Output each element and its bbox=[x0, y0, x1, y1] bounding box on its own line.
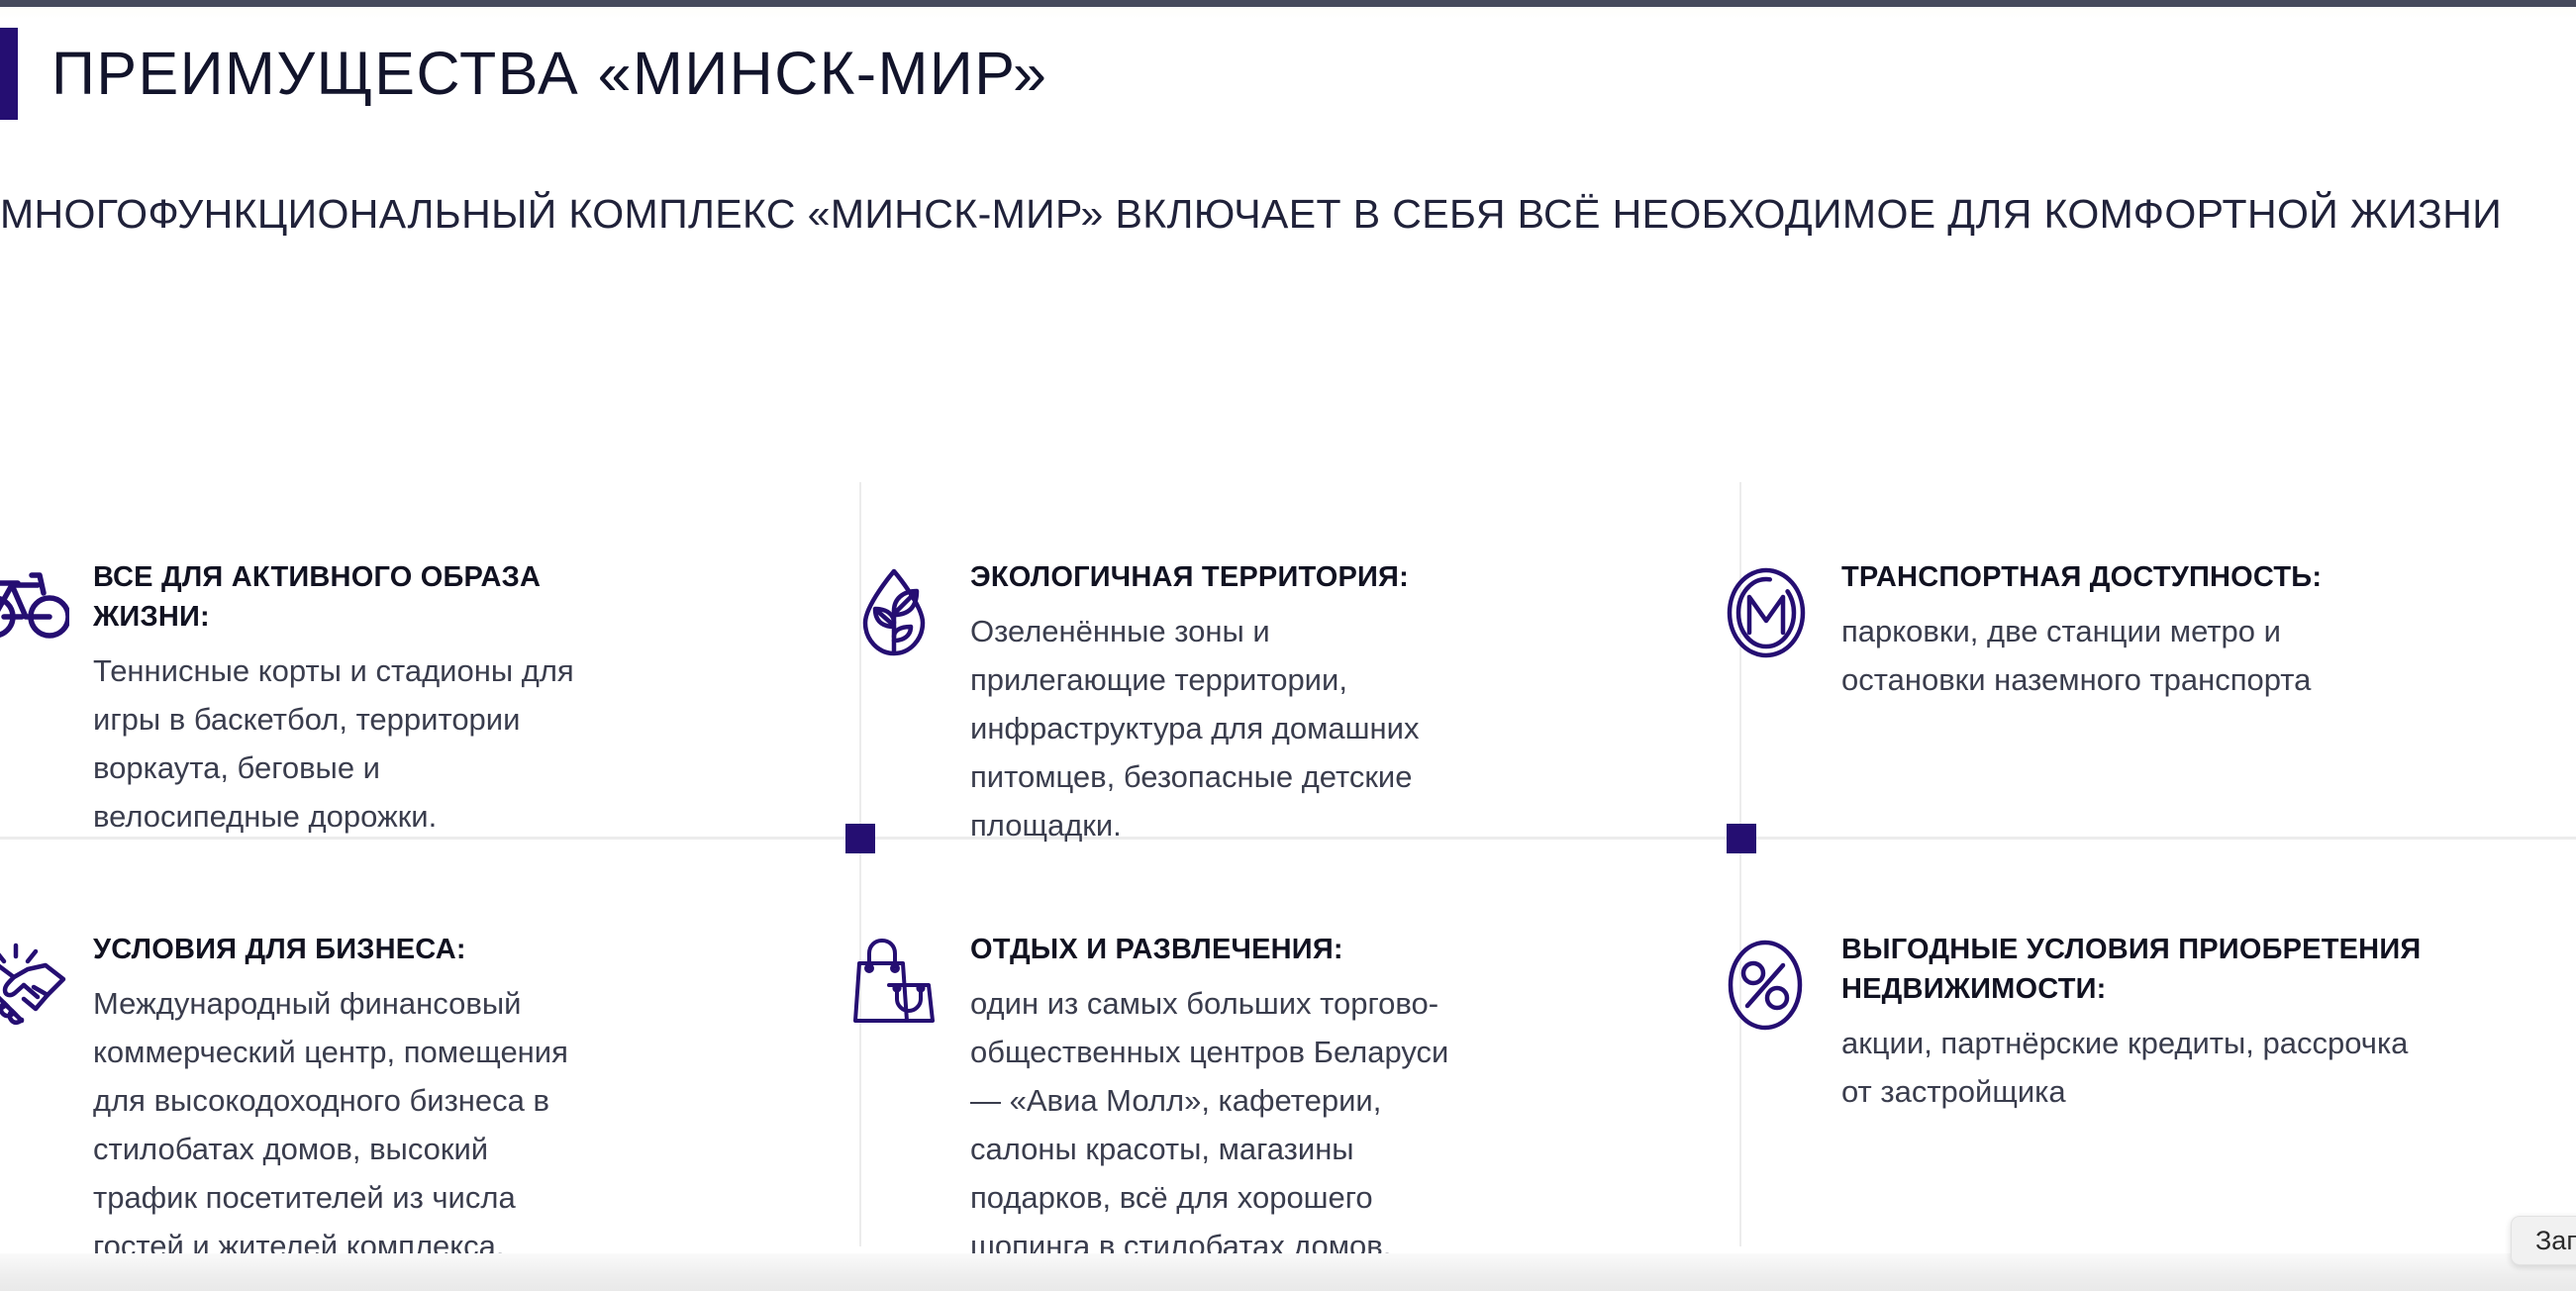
browser-chrome-strip bbox=[0, 0, 2576, 7]
eco-leaf-droplet-icon bbox=[851, 557, 970, 660]
grid-intersection-marker-2 bbox=[1727, 824, 1756, 853]
advantage-card-leisure: ОТДЫХ И РАЗВЛЕЧЕНИЯ: один из самых больш… bbox=[851, 930, 1455, 1270]
advantage-card-purchase-terms: ВЫГОДНЫЕ УСЛОВИЯ ПРИОБРЕТЕНИЯ НЕДВИЖИМОС… bbox=[1723, 930, 2435, 1116]
advantage-card-title: ВСЕ ДЛЯ АКТИВНОГО ОБРАЗА ЖИЗНИ: bbox=[93, 557, 588, 637]
advantage-card-active-lifestyle: ВСЕ ДЛЯ АКТИВНОГО ОБРАЗА ЖИЗНИ: Теннисны… bbox=[0, 557, 588, 841]
advantage-card-body: ТРАНСПОРТНАЯ ДОСТУПНОСТЬ: парковки, две … bbox=[1841, 557, 2416, 704]
advantage-card-body: ОТДЫХ И РАЗВЛЕЧЕНИЯ: один из самых больш… bbox=[970, 930, 1455, 1270]
advantage-card-text: парковки, две станции метро и остановки … bbox=[1841, 607, 2416, 704]
advantage-card-text: один из самых больших торгово-общественн… bbox=[970, 979, 1455, 1270]
advantage-card-eco-territory: ЭКОЛОГИЧНАЯ ТЕРРИТОРИЯ: Озеленённые зоны… bbox=[851, 557, 1445, 849]
advantage-card-body: ЭКОЛОГИЧНАЯ ТЕРРИТОРИЯ: Озеленённые зоны… bbox=[970, 557, 1445, 849]
advantage-card-title: ТРАНСПОРТНАЯ ДОСТУПНОСТЬ: bbox=[1841, 557, 2416, 597]
metro-icon bbox=[1723, 557, 1841, 660]
advantage-card-transport: ТРАНСПОРТНАЯ ДОСТУПНОСТЬ: парковки, две … bbox=[1723, 557, 2416, 704]
advantage-card-body: ВЫГОДНЫЕ УСЛОВИЯ ПРИОБРЕТЕНИЯ НЕДВИЖИМОС… bbox=[1841, 930, 2435, 1116]
advantage-card-text: Теннисные корты и стадионы для игры в ба… bbox=[93, 646, 588, 841]
advantage-card-title: ВЫГОДНЫЕ УСЛОВИЯ ПРИОБРЕТЕНИЯ НЕДВИЖИМОС… bbox=[1841, 930, 2435, 1009]
advantage-card-title: ОТДЫХ И РАЗВЛЕЧЕНИЯ: bbox=[970, 930, 1455, 969]
shopping-bags-icon bbox=[851, 930, 970, 1033]
bicycle-icon bbox=[0, 557, 93, 641]
page-subtitle: МНОГОФУНКЦИОНАЛЬНЫЙ КОМПЛЕКС «МИНСК-МИР»… bbox=[0, 168, 2554, 259]
advantages-grid: ВСЕ ДЛЯ АКТИВНОГО ОБРАЗА ЖИЗНИ: Теннисны… bbox=[0, 482, 2576, 1274]
advantage-card-text: Озеленённые зоны и прилегающие территори… bbox=[970, 607, 1445, 849]
advantage-card-title: УСЛОВИЯ ДЛЯ БИЗНЕСА: bbox=[93, 930, 588, 969]
advantage-card-text: акции, партнёрские кредиты, рассрочка от… bbox=[1841, 1019, 2435, 1116]
page-title: ПРЕИМУЩЕСТВА «МИНСК-МИР» bbox=[51, 34, 1047, 113]
page-bottom-band bbox=[0, 1253, 2576, 1291]
page-top-fade bbox=[0, 7, 2576, 19]
page-root: ПРЕИМУЩЕСТВА «МИНСК-МИР» МНОГОФУНКЦИОНАЛ… bbox=[0, 0, 2576, 1291]
floating-action-button-label: Зап bbox=[2535, 1226, 2576, 1256]
advantage-card-title: ЭКОЛОГИЧНАЯ ТЕРРИТОРИЯ: bbox=[970, 557, 1445, 597]
percent-icon bbox=[1723, 930, 1841, 1033]
heading-accent-bar bbox=[0, 28, 18, 120]
floating-action-button[interactable]: Зап bbox=[2511, 1216, 2576, 1265]
handshake-icon bbox=[0, 930, 93, 1033]
advantage-card-text: Международный финансовый коммерческий це… bbox=[93, 979, 588, 1270]
advantage-card-body: ВСЕ ДЛЯ АКТИВНОГО ОБРАЗА ЖИЗНИ: Теннисны… bbox=[93, 557, 588, 841]
advantage-card-business: УСЛОВИЯ ДЛЯ БИЗНЕСА: Международный финан… bbox=[0, 930, 588, 1270]
advantage-card-body: УСЛОВИЯ ДЛЯ БИЗНЕСА: Международный финан… bbox=[93, 930, 588, 1270]
section-heading: ПРЕИМУЩЕСТВА «МИНСК-МИР» bbox=[0, 28, 2576, 123]
